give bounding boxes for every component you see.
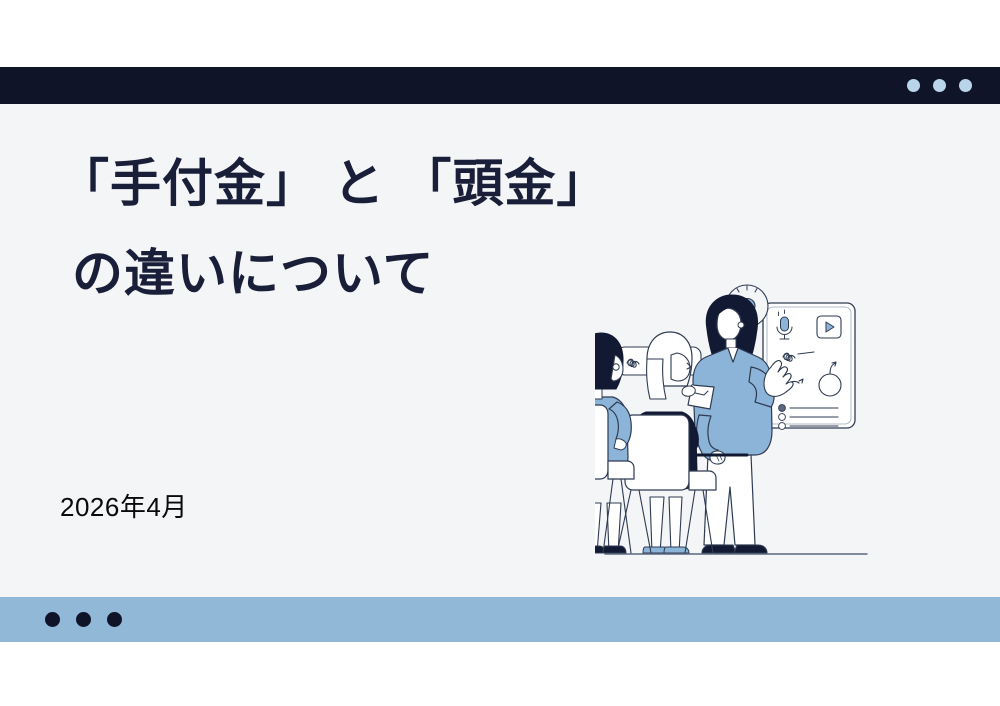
top-bar-dot-2 <box>933 79 946 92</box>
bottom-bar-dot-1 <box>45 612 60 627</box>
slide-canvas: 「手付金」 と 「頭金」 の違いについて 2026年4月 <box>0 67 1000 642</box>
slide-bottom-bar <box>0 597 1000 642</box>
bottom-bar-dot-2 <box>76 612 91 627</box>
slide-date: 2026年4月 <box>60 487 188 524</box>
title-line-1: 「手付金」 と 「頭金」 <box>58 139 698 229</box>
slide-top-bar <box>0 67 1000 104</box>
presenter-hand-lower <box>710 451 725 464</box>
presentation-meeting-illustration <box>595 275 885 585</box>
bottom-bar-dot-3 <box>107 612 122 627</box>
top-bar-dot-1 <box>907 79 920 92</box>
bottom-bar-dot-group <box>45 612 122 627</box>
top-bar-dot-3 <box>959 79 972 92</box>
play-button-icon <box>817 316 841 338</box>
top-bar-dot-group <box>907 79 972 92</box>
